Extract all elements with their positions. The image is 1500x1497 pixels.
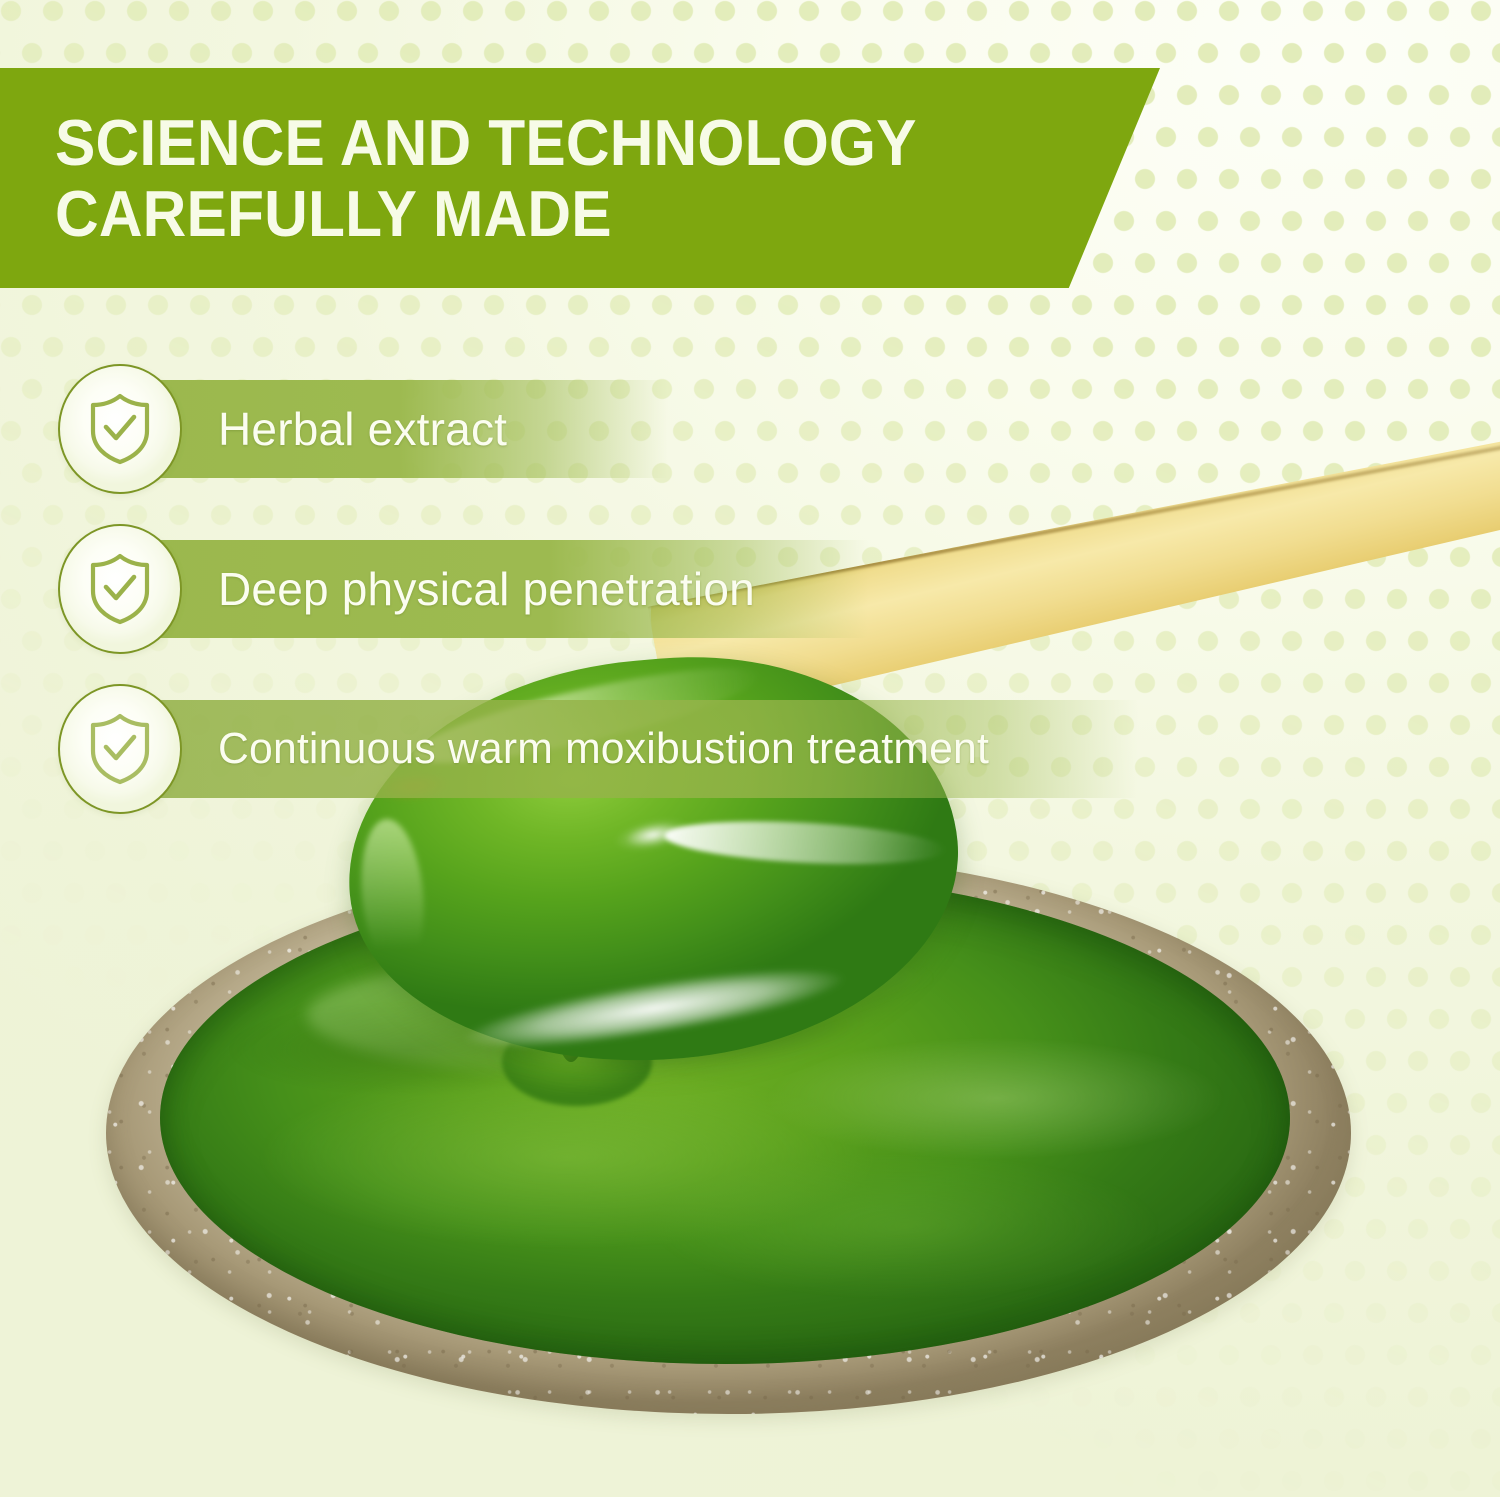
feature-label: Deep physical penetration (218, 540, 755, 638)
feature-row: Deep physical penetration (0, 522, 1500, 682)
page-title: SCIENCE AND TECHNOLOGY CAREFULLY MADE (55, 107, 917, 250)
feature-icon-badge (58, 684, 182, 814)
product-feature-poster: SCIENCE AND TECHNOLOGY CAREFULLY MADE He… (0, 0, 1500, 1497)
feature-list: Herbal extract Deep physical penetration… (0, 362, 1500, 842)
feature-icon-badge (58, 364, 182, 494)
feature-label: Continuous warm moxibustion treatment (218, 700, 989, 798)
feature-row: Herbal extract (0, 362, 1500, 522)
headline-banner: SCIENCE AND TECHNOLOGY CAREFULLY MADE (0, 68, 1160, 288)
feature-row: Continuous warm moxibustion treatment (0, 682, 1500, 842)
shield-check-icon (84, 391, 156, 467)
feature-label: Herbal extract (218, 380, 507, 478)
shield-check-icon (84, 711, 156, 787)
feature-icon-badge (58, 524, 182, 654)
shield-check-icon (84, 551, 156, 627)
